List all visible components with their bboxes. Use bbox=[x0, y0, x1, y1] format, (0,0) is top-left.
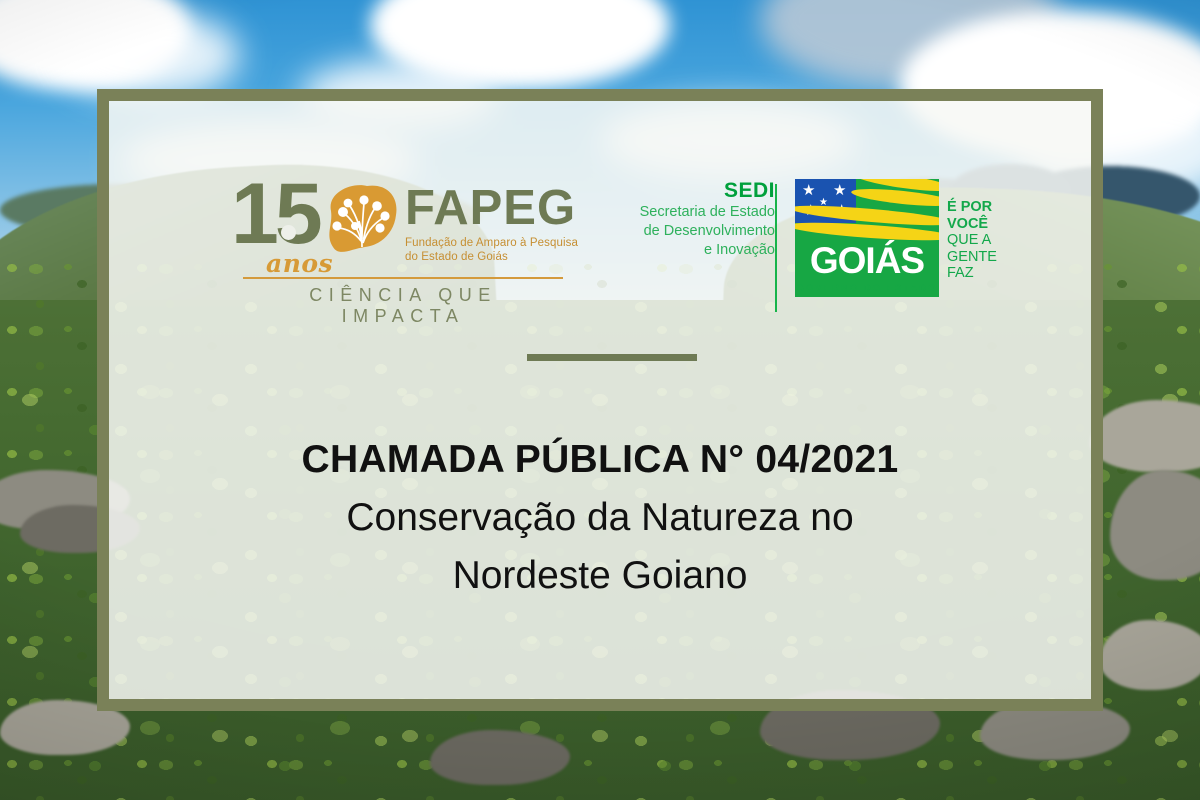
flag-star: ★ bbox=[833, 183, 846, 198]
slogan-line2: VOCÊ bbox=[947, 216, 1017, 233]
goias-flag-icon: ★ ★ ★ ★ ★ GOIÁS GOVERNO DO ESTADO bbox=[795, 179, 939, 297]
fapeg-tagline: CIÊNCIA QUE IMPACTA bbox=[243, 285, 563, 327]
announcement-title: CHAMADA PÚBLICA N° 04/2021 Conservação d… bbox=[109, 431, 1091, 605]
announcement-subject-line1: Conservação da Natureza no bbox=[109, 489, 1091, 547]
sedi-line1: Secretaria de Estado bbox=[595, 203, 775, 222]
sedi-logo: SEDI Secretaria de Estado de Desenvolvim… bbox=[595, 179, 775, 260]
fapeg-subtitle-line1: Fundação de Amparo à Pesquisa bbox=[405, 236, 578, 250]
logo-bar: 15 anos bbox=[109, 163, 1091, 323]
vertical-divider bbox=[775, 184, 777, 312]
content-frame: 15 anos bbox=[97, 89, 1103, 711]
sedi-acronym: SEDI bbox=[595, 179, 775, 203]
brain-neuron-icon bbox=[317, 181, 401, 259]
flag-star: ★ bbox=[802, 183, 815, 198]
anniversary-number: 15 bbox=[231, 171, 331, 257]
slogan-line4: GENTE bbox=[947, 249, 1017, 266]
goias-government-label: GOVERNO DO ESTADO bbox=[795, 283, 939, 294]
fapeg-wordmark: FAPEG Fundação de Amparo à Pesquisa do E… bbox=[405, 183, 578, 264]
orange-rule-divider bbox=[243, 277, 563, 279]
poster: 15 anos bbox=[0, 0, 1200, 800]
fapeg-subtitle-line2: do Estado de Goiás bbox=[405, 250, 578, 264]
goias-government-logo: ★ ★ ★ ★ ★ GOIÁS GOVERNO DO ESTADO bbox=[795, 179, 939, 315]
anniversary-number-cut bbox=[281, 225, 296, 240]
sedi-line2: de Desenvolvimento bbox=[595, 222, 775, 241]
slogan-line1: É POR bbox=[947, 199, 1017, 216]
slogan-line5: FAZ bbox=[947, 265, 1017, 282]
goias-state-name: GOIÁS bbox=[795, 242, 939, 280]
goias-slogan: É POR VOCÊ QUE A GENTE FAZ bbox=[947, 199, 1017, 282]
announcement-headline: CHAMADA PÚBLICA N° 04/2021 bbox=[109, 431, 1091, 489]
fapeg-brand: FAPEG bbox=[405, 183, 578, 233]
sedi-line3: e Inovação bbox=[595, 241, 775, 260]
announcement-subject-line2: Nordeste Goiano bbox=[109, 547, 1091, 605]
slogan-line3: QUE A bbox=[947, 232, 1017, 249]
section-divider-bar bbox=[527, 354, 697, 361]
fapeg-15-anos-mark: 15 anos bbox=[231, 171, 331, 286]
